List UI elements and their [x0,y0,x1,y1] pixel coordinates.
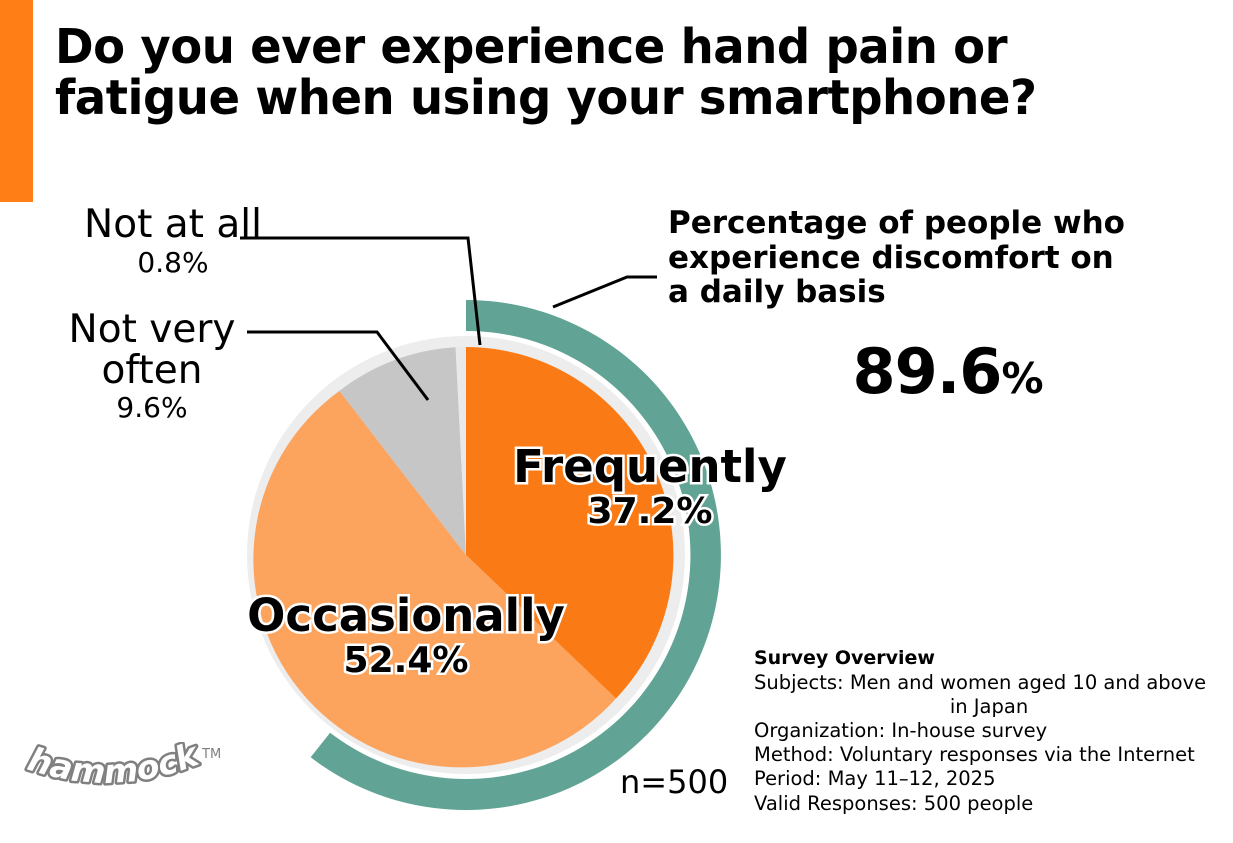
survey-method: Method: Voluntary responses via the Inte… [754,743,1224,767]
headline-annotation-value: 89.6% [668,335,1228,408]
brand-logo: hammock'h hammock'h TM [16,742,231,814]
logo-wordmark: hammock'h [16,742,205,791]
slice-label-frequently-value: 37.2% [480,491,820,533]
survey-valid-responses: Valid Responses: 500 people [754,792,1224,816]
survey-subjects-continued: in Japan [754,695,1224,719]
headline-annotation-text: Percentage of people who experience disc… [668,206,1233,310]
slice-label-occasionally-value: 52.4% [206,640,606,682]
leader-line-daily-discomfort [553,277,657,307]
callout-not-very-often: Not very often 9.6% [52,310,252,423]
slice-label-occasionally-name: Occasionally [206,592,606,640]
survey-subjects: Subjects: Men and women aged 10 and abov… [754,671,1224,695]
headline-value-unit: % [1001,354,1043,403]
survey-overview-title: Survey Overview [754,646,1224,671]
slice-label-occasionally: Occasionally 52.4% [206,592,606,682]
callout-not-very-often-label: Not very often [52,310,252,391]
callout-not-at-all: Not at all 0.8% [68,205,278,278]
slice-label-frequently: Frequently 37.2% [480,443,820,533]
survey-overview: Survey Overview Subjects: Men and women … [754,646,1224,816]
slice-label-frequently-name: Frequently [480,443,820,491]
survey-period: Period: May 11–12, 2025 [754,767,1224,791]
infographic-canvas: Do you ever experience hand pain or fati… [0,0,1233,843]
callout-not-at-all-value: 0.8% [68,247,278,278]
headline-value-number: 89.6 [852,335,1001,408]
callout-not-at-all-label: Not at all [68,205,278,246]
survey-organization: Organization: In-house survey [754,719,1224,743]
callout-not-very-often-value: 9.6% [52,392,252,423]
logo-trademark-icon: TM [201,747,221,762]
sample-size-label: n=500 [620,763,728,801]
